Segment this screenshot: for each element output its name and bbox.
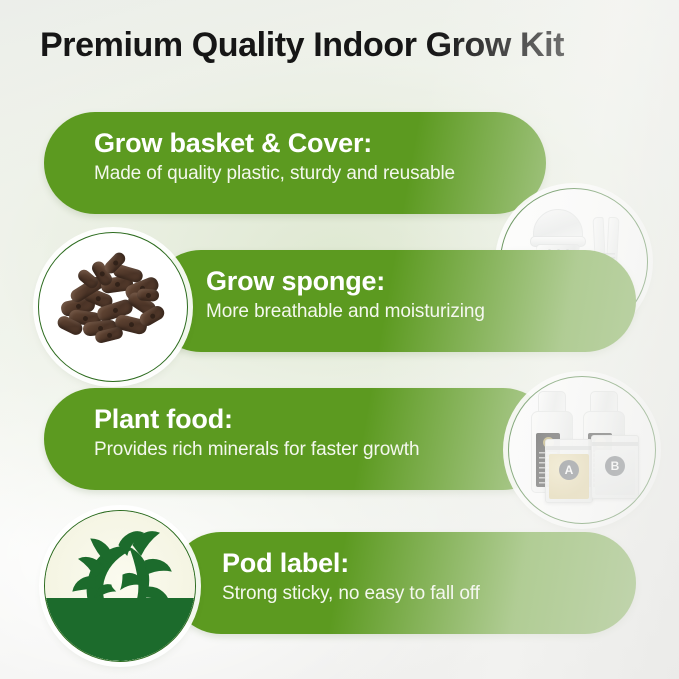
feature-pill-4[interactable]: Pod label: Strong sticky, no easy to fal… <box>170 532 636 634</box>
pouch-zip <box>592 442 638 446</box>
feature-image-plant-food: A B <box>508 376 656 524</box>
feature-description-3: Provides rich minerals for faster growth <box>94 440 419 461</box>
feature-image-grow-sponge <box>38 232 188 382</box>
feature-row-grow-basket: Grow basket & Cover: Made of quality pla… <box>0 104 679 238</box>
sticker-base-arc <box>45 598 195 661</box>
pouch-badge-b: B <box>605 456 625 476</box>
feature-heading-3: Plant food: <box>94 405 419 433</box>
nutrient-pouch-a: A <box>545 439 593 503</box>
feature-description-1: Made of quality plastic, sturdy and reus… <box>94 164 455 185</box>
nutrient-pouch-b: B <box>591 435 639 499</box>
feature-pill-3[interactable]: Plant food: Provides rich minerals for f… <box>44 388 554 490</box>
feature-pill-1[interactable]: Grow basket & Cover: Made of quality pla… <box>44 112 546 214</box>
product-feature-poster: Premium Quality Indoor Grow Kit Grow bas… <box>0 0 679 679</box>
feature-image-pod-label <box>44 510 196 662</box>
pouch-badge-a: A <box>559 460 579 480</box>
feature-description-4: Strong sticky, no easy to fall off <box>222 584 480 605</box>
feature-row-grow-sponge: Grow sponge: More breathable and moistur… <box>0 236 679 376</box>
feature-pill-2[interactable]: Grow sponge: More breathable and moistur… <box>150 250 636 352</box>
pouch-zip <box>546 446 592 450</box>
feature-heading-4: Pod label: <box>222 549 480 577</box>
feature-heading-2: Grow sponge: <box>206 267 485 295</box>
feature-row-plant-food: Plant food: Provides rich minerals for f… <box>0 372 679 512</box>
feature-description-2: More breathable and moisturizing <box>206 302 485 323</box>
page-title: Premium Quality Indoor Grow Kit <box>40 26 564 65</box>
feature-row-pod-label: Pod label: Strong sticky, no easy to fal… <box>0 510 679 662</box>
feature-heading-1: Grow basket & Cover: <box>94 129 455 157</box>
